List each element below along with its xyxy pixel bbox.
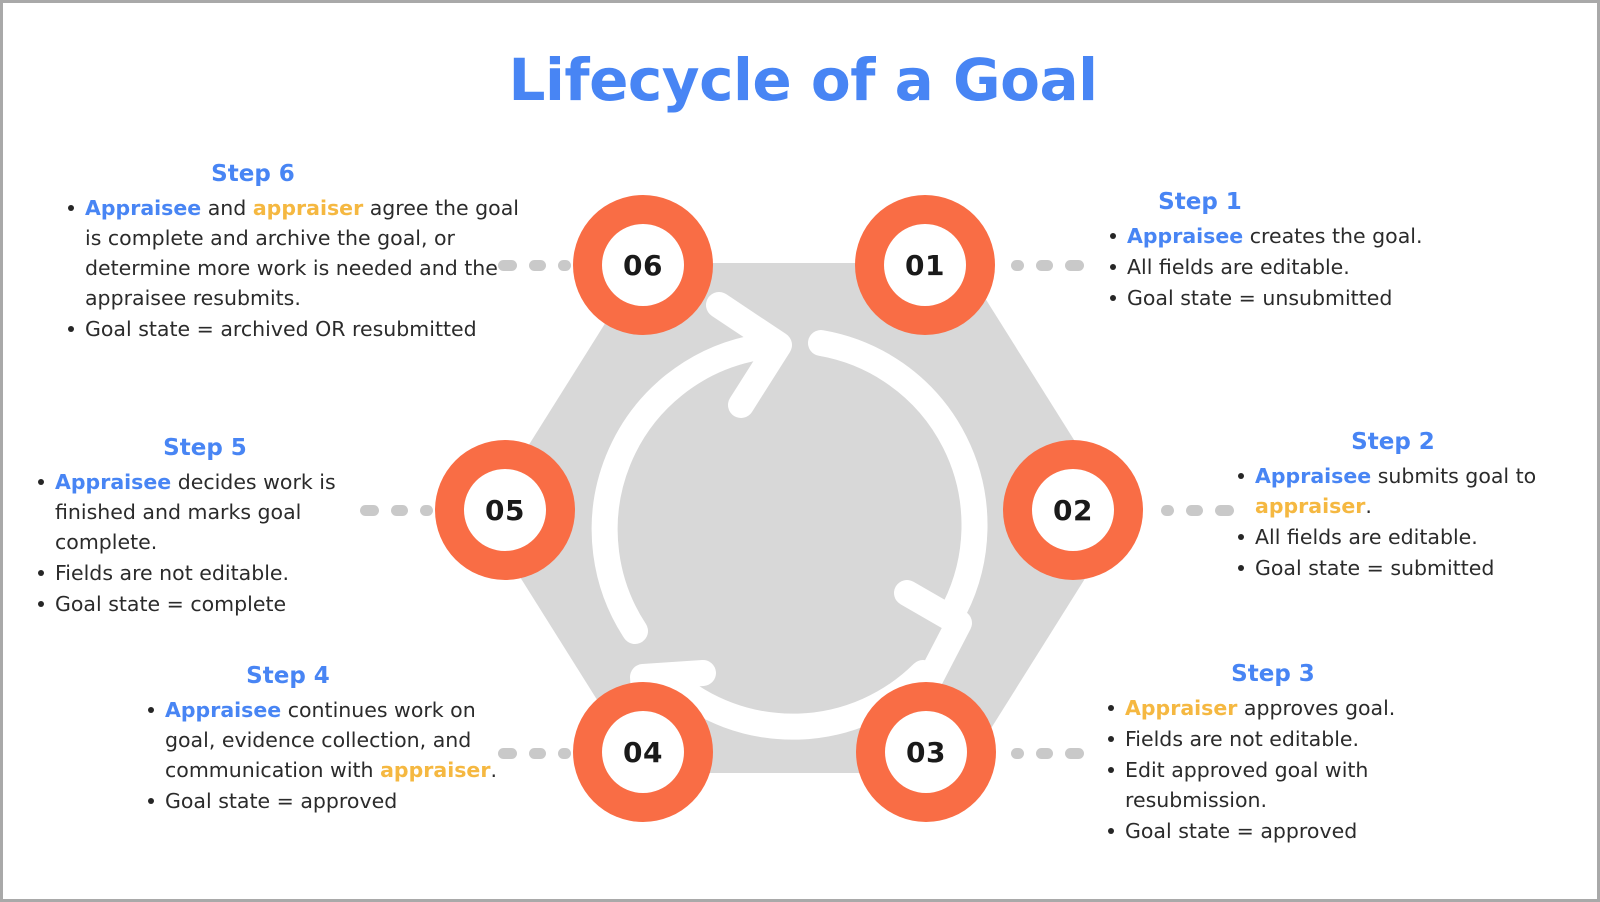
step-block-6: Step 6 Appraisee and appraiser agree the…: [63, 161, 523, 345]
node-02-label: 02: [1032, 469, 1114, 551]
appraisee-term: Appraisee: [165, 698, 281, 722]
step-2-title: Step 2: [1293, 429, 1493, 457]
bullet-item: Goal state = archived OR resubmitted: [63, 314, 523, 344]
bullet-item: All fields are editable.: [1233, 522, 1563, 552]
appraisee-term: Appraisee: [1255, 464, 1371, 488]
bullet-text: All fields are editable.: [1255, 525, 1478, 549]
dash-segment: [1065, 260, 1084, 271]
diagram-canvas: Lifecycle of a Goal 01 02 03 04: [0, 0, 1600, 902]
bullet-text: Goal state = submitted: [1255, 556, 1494, 580]
bullet-text: All fields are editable.: [1127, 255, 1350, 279]
bullet-item: Appraisee continues work on goal, eviden…: [143, 695, 503, 785]
node-03-label: 03: [885, 711, 967, 793]
dash-segment: [1011, 260, 1024, 271]
dash-segment: [1036, 260, 1053, 271]
step-3-bullets: Appraiser approves goal.Fields are not e…: [1103, 693, 1443, 847]
dash-segment: [529, 260, 546, 271]
bullet-text: Goal state = archived OR resubmitted: [85, 317, 477, 341]
bullet-text: submits goal to: [1371, 464, 1536, 488]
connector-dashes-02: [1161, 502, 1234, 518]
bullet-text: Goal state = approved: [1125, 819, 1357, 843]
dash-segment: [391, 505, 408, 516]
appraisee-term: Appraisee: [85, 196, 201, 220]
node-05[interactable]: 05: [435, 440, 575, 580]
bullet-item: Goal state = approved: [1103, 816, 1443, 846]
node-01-label: 01: [884, 224, 966, 306]
dash-segment: [420, 505, 433, 516]
bullet-item: Goal state = unsubmitted: [1105, 283, 1465, 313]
step-block-4: Step 4 Appraisee continues work on goal,…: [143, 663, 503, 817]
step-1-bullets: Appraisee creates the goal.All fields ar…: [1105, 221, 1465, 313]
connector-dashes-04: [498, 745, 571, 761]
node-06[interactable]: 06: [573, 195, 713, 335]
step-4-title: Step 4: [143, 663, 433, 691]
step-1-title: Step 1: [1105, 189, 1295, 217]
dash-segment: [558, 748, 571, 759]
bullet-text: Fields are not editable.: [55, 561, 289, 585]
bullet-item: Appraiser approves goal.: [1103, 693, 1443, 723]
dash-segment: [1161, 505, 1174, 516]
bullet-text: Goal state = unsubmitted: [1127, 286, 1392, 310]
bullet-item: Appraisee submits goal to appraiser.: [1233, 461, 1563, 521]
node-02[interactable]: 02: [1003, 440, 1143, 580]
bullet-item: Goal state = approved: [143, 786, 503, 816]
step-block-1: Step 1 Appraisee creates the goal.All fi…: [1105, 189, 1465, 314]
dash-segment: [1215, 505, 1234, 516]
node-04-label: 04: [602, 711, 684, 793]
node-06-label: 06: [602, 224, 684, 306]
bullet-text: Goal state = complete: [55, 592, 286, 616]
bullet-item: Fields are not editable.: [1103, 724, 1443, 754]
step-block-5: Step 5 Appraisee decides work is finishe…: [33, 435, 383, 620]
bullet-text: Goal state = approved: [165, 789, 397, 813]
step-6-title: Step 6: [98, 161, 408, 189]
bullet-text: Fields are not editable.: [1125, 727, 1359, 751]
bullet-text: Edit approved goal with resubmission.: [1125, 758, 1368, 812]
node-03[interactable]: 03: [856, 682, 996, 822]
bullet-text: .: [1365, 494, 1372, 518]
bullet-text: .: [490, 758, 497, 782]
bullet-text: approves goal.: [1237, 696, 1395, 720]
node-04[interactable]: 04: [573, 682, 713, 822]
dash-segment: [1036, 748, 1053, 759]
step-4-bullets: Appraisee continues work on goal, eviden…: [143, 695, 503, 817]
bullet-text: and: [201, 196, 253, 220]
page-title: Lifecycle of a Goal: [3, 49, 1600, 113]
appraisee-term: Appraisee: [55, 470, 171, 494]
node-01[interactable]: 01: [855, 195, 995, 335]
step-2-bullets: Appraisee submits goal to appraiser.All …: [1233, 461, 1563, 584]
appraiser-term: appraiser: [380, 758, 490, 782]
bullet-item: Appraisee decides work is finished and m…: [33, 467, 383, 557]
step-block-2: Step 2 Appraisee submits goal to apprais…: [1233, 429, 1563, 584]
bullet-item: Goal state = submitted: [1233, 553, 1563, 583]
dash-segment: [1011, 748, 1024, 759]
dash-segment: [529, 748, 546, 759]
appraiser-term: Appraiser: [1125, 696, 1237, 720]
appraisee-term: Appraisee: [1127, 224, 1243, 248]
node-05-label: 05: [464, 469, 546, 551]
step-5-bullets: Appraisee decides work is finished and m…: [33, 467, 383, 620]
dash-segment: [558, 260, 571, 271]
bullet-item: All fields are editable.: [1105, 252, 1465, 282]
step-block-3: Step 3 Appraiser approves goal.Fields ar…: [1103, 661, 1443, 847]
step-3-title: Step 3: [1163, 661, 1383, 689]
bullet-item: Appraisee creates the goal.: [1105, 221, 1465, 251]
bullet-item: Goal state = complete: [33, 589, 383, 619]
appraiser-term: appraiser: [253, 196, 363, 220]
bullet-item: Edit approved goal with resubmission.: [1103, 755, 1443, 815]
bullet-text: creates the goal.: [1243, 224, 1422, 248]
dash-segment: [1186, 505, 1203, 516]
dash-segment: [1065, 748, 1084, 759]
step-5-title: Step 5: [55, 435, 355, 463]
bullet-item: Fields are not editable.: [33, 558, 383, 588]
step-6-bullets: Appraisee and appraiser agree the goal i…: [63, 193, 523, 345]
bullet-item: Appraisee and appraiser agree the goal i…: [63, 193, 523, 314]
appraiser-term: appraiser: [1255, 494, 1365, 518]
connector-dashes-03: [1011, 745, 1084, 761]
connector-dashes-01: [1011, 257, 1084, 273]
